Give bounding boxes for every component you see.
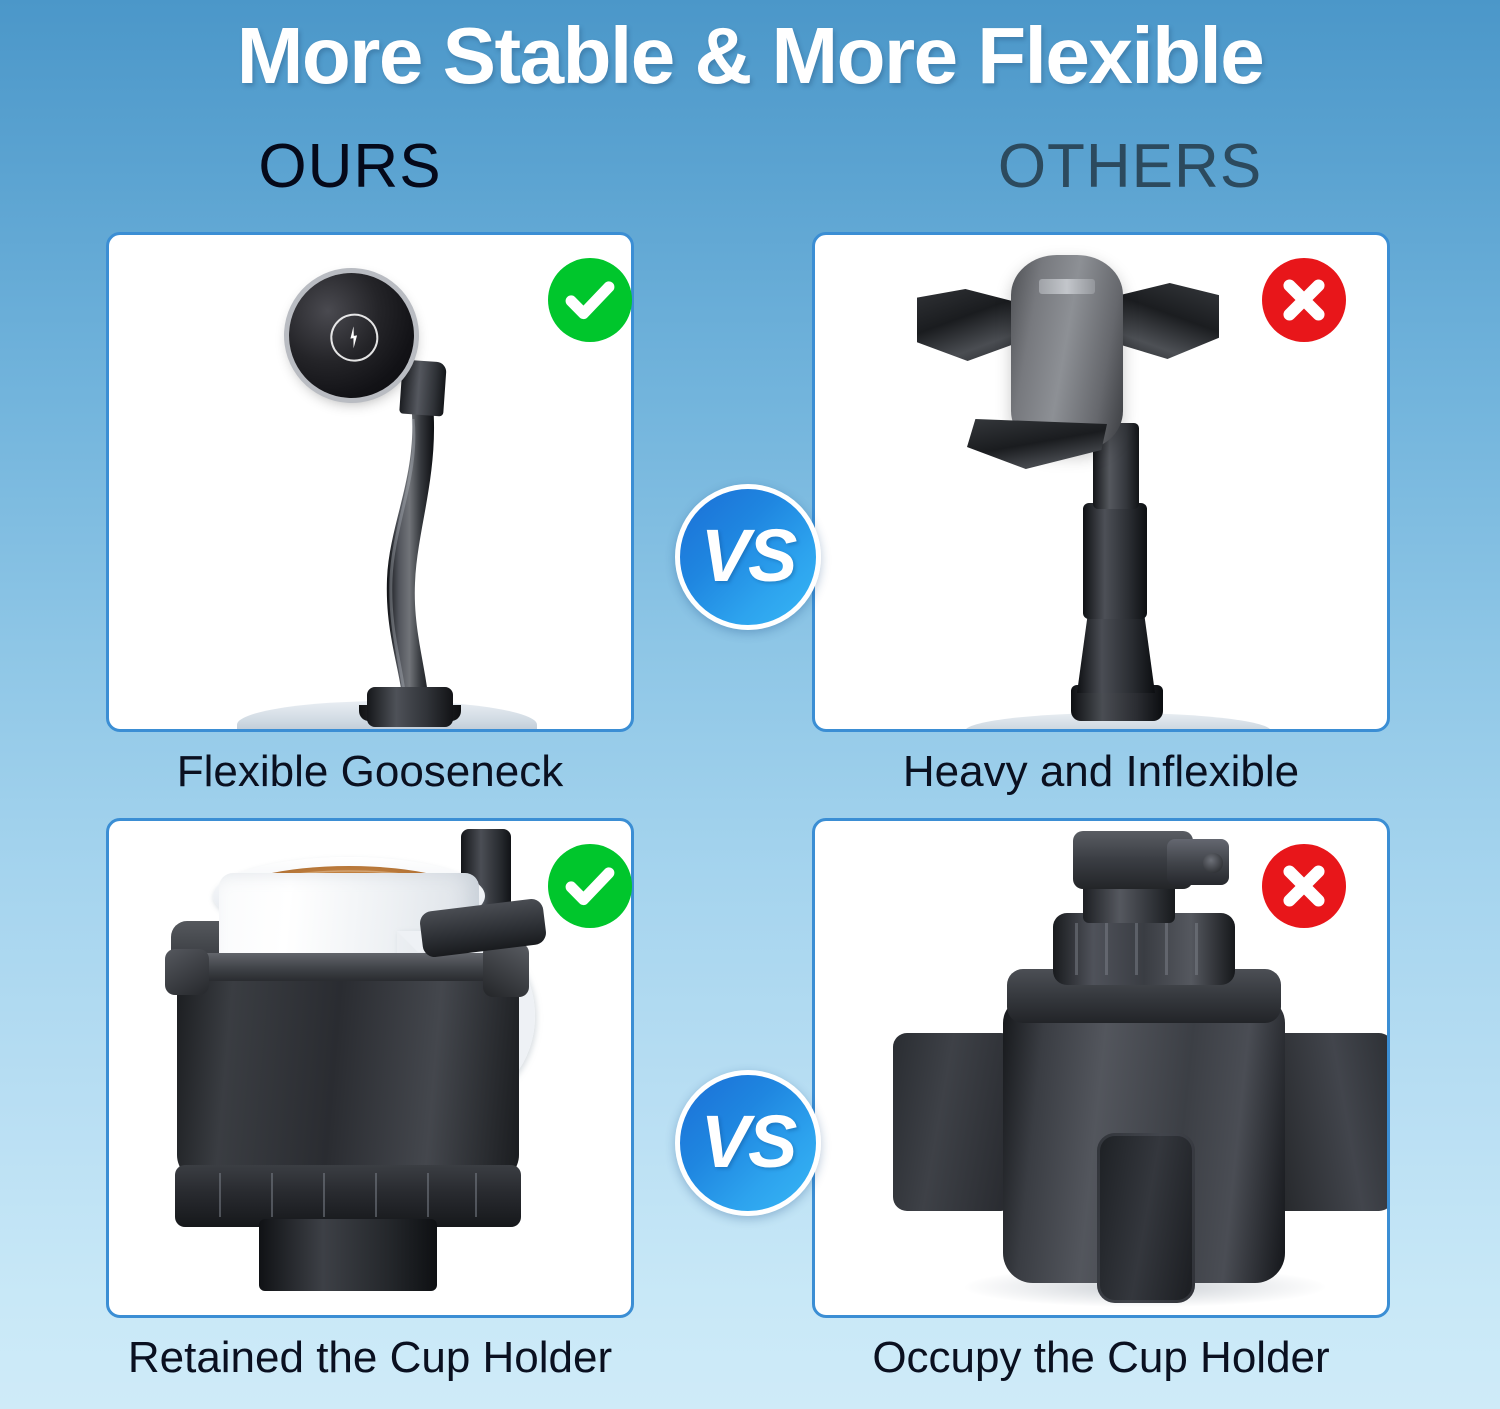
vs-badge-label: VS xyxy=(701,513,796,598)
cross-icon xyxy=(1275,857,1333,915)
vs-badge-label: VS xyxy=(701,1099,796,1184)
holder-body-shape xyxy=(177,957,519,1181)
check-icon xyxy=(561,271,619,329)
gooseneck-joint-shape xyxy=(399,360,447,417)
base-wing-left-shape xyxy=(893,1033,1015,1211)
holder-top-strip-shape xyxy=(171,953,523,981)
gooseneck-arm-shape xyxy=(377,403,443,703)
pole-lower-shape xyxy=(1077,613,1155,693)
gooseneck-base-shape xyxy=(367,687,453,727)
clamp-arm-right-shape xyxy=(1107,283,1219,359)
ball-joint-screw-shape xyxy=(1203,853,1223,873)
cross-icon xyxy=(1275,271,1333,329)
pole-upper-shape xyxy=(1083,503,1147,619)
vs-badge-bottom: VS xyxy=(675,1070,821,1216)
clamp-foot-cradle-shape xyxy=(967,419,1107,469)
column-heading-others: OTHERS xyxy=(780,136,1480,198)
clamp-brand-plate-shape xyxy=(1039,279,1095,294)
status-badge-check-ours-bottom xyxy=(548,844,632,928)
caption-others-bottom: Occupy the Cup Holder xyxy=(812,1336,1390,1380)
holder-lip-left-shape xyxy=(165,949,209,995)
check-icon xyxy=(561,857,619,915)
status-badge-cross-others-top xyxy=(1262,258,1346,342)
page-title: More Stable & More Flexible xyxy=(0,14,1500,98)
base-wing-right-shape xyxy=(1271,1033,1390,1211)
caption-ours-bottom: Retained the Cup Holder xyxy=(96,1336,644,1380)
holder-lip-right-shape xyxy=(483,943,529,997)
column-heading-ours: OURS xyxy=(0,136,700,198)
base-ribbed-collar-shape xyxy=(1053,913,1235,985)
base-front-pad-shape xyxy=(1097,1133,1195,1303)
status-badge-check-ours-top xyxy=(548,258,632,342)
caption-others-top: Heavy and Inflexible xyxy=(812,750,1390,794)
wireless-charging-bolt-icon xyxy=(327,310,381,364)
holder-adjust-ring-shape xyxy=(175,1165,521,1227)
caption-ours-top: Flexible Gooseneck xyxy=(106,750,634,794)
status-badge-cross-others-bottom xyxy=(1262,844,1346,928)
holder-stem-shape xyxy=(259,1219,437,1291)
vs-badge-top: VS xyxy=(675,484,821,630)
